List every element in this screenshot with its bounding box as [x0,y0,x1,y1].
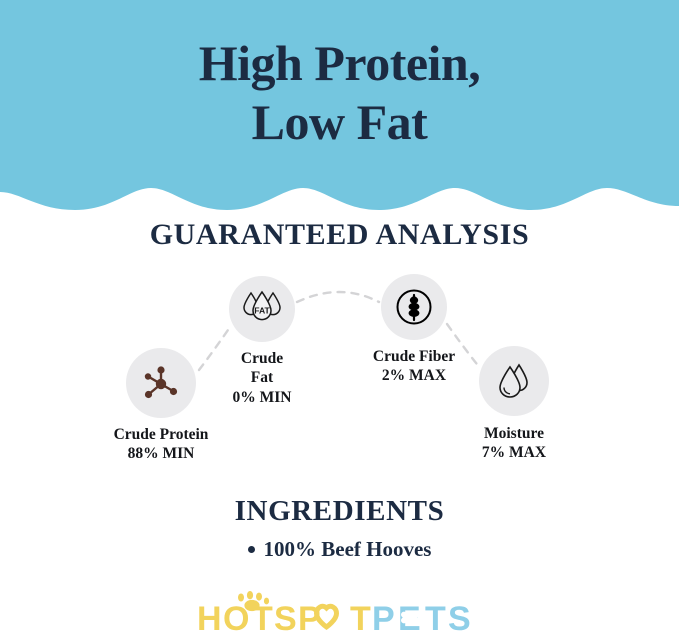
guaranteed-analysis-heading: GUARANTEED ANALYSIS [0,218,679,252]
nutrient-label: Crude Fiber 2% MAX [344,347,484,386]
nutrient-value: 2% MAX [344,366,484,385]
nutrient-value: 0% MIN [192,388,332,407]
fiber-wheat-icon [393,286,435,328]
logo-letter-p2: P [372,600,395,635]
logo-letter-t1: T [252,600,273,635]
wave-divider [0,176,679,212]
header-banner: High Protein, Low Fat [0,0,679,212]
nutrient-label: Moisture 7% MAX [444,424,584,463]
nutrient-value: 88% MIN [61,444,261,463]
nutrient-label: Crude Fat 0% MIN [192,349,332,407]
logo-text-hotspot: H [197,600,222,635]
fat-droplets-icon: FAT [240,289,284,329]
nutrient-label: Crude Protein 88% MIN [61,425,261,464]
logo-letter-t2: T [350,600,371,635]
nutrient-name-line-1: Crude [192,349,332,368]
bullet-icon [248,546,255,553]
page-title: High Protein, Low Fat [0,34,679,152]
logo-letter-s: S [274,600,297,635]
product-infographic: High Protein, Low Fat GUARANTEED ANALYSI… [0,0,679,636]
moisture-droplets-icon [493,360,535,402]
page-title-line-2: Low Fat [0,93,679,152]
nutrient-icon-circle [381,274,447,340]
logo-letter-t3: T [425,600,446,635]
heart-icon [316,606,336,627]
nutrient-icon-circle [126,348,196,418]
logo-letter-o1: O [223,600,250,635]
nutrient-name: Crude Protein [114,426,209,443]
ingredients-heading: INGREDIENTS [0,495,679,528]
logo-letter-s2: S [448,600,471,635]
protein-molecule-icon [138,360,184,406]
nutrient-value: 7% MAX [444,443,584,462]
fat-icon-label: FAT [254,306,270,316]
nutrient-icon-circle [479,346,549,416]
page-title-line-1: High Protein, [0,34,679,93]
ingredients-list: 100% Beef Hooves [0,537,679,562]
list-item: 100% Beef Hooves [0,537,679,562]
hotspotpets-logo: H O T S P T P E T S [195,591,485,635]
brand-logo: H O T S P T P E T S [0,590,679,636]
guaranteed-analysis-diagram: Crude Protein 88% MIN FAT Crude Fat [0,258,679,478]
nutrient-name: Moisture [484,425,544,442]
nutrient-name: Crude Fiber [373,348,455,365]
ingredient-text: 100% Beef Hooves [264,537,432,561]
nutrient-icon-circle: FAT [229,276,295,342]
nutrient-name-line-2: Fat [192,368,332,387]
